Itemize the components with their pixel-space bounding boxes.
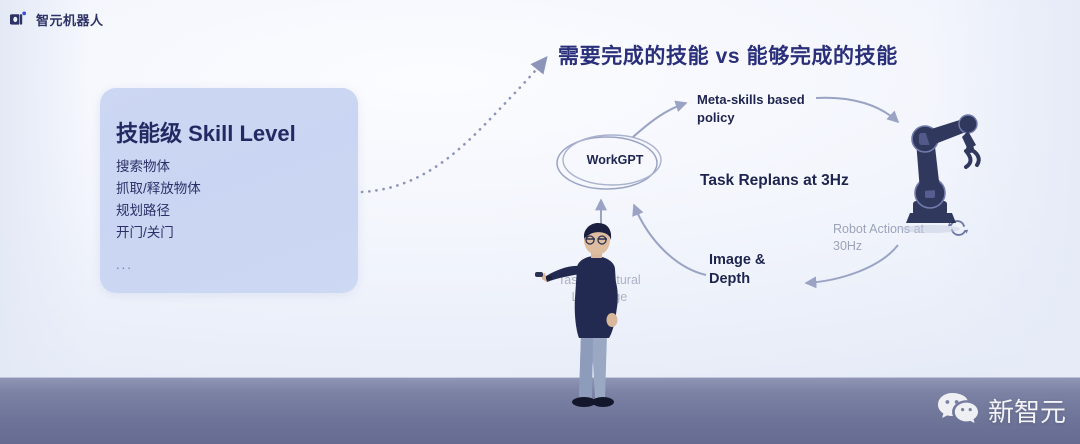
aglibot-logo-icon — [10, 10, 29, 29]
brand-name: 智元机器人 — [36, 10, 104, 29]
page-title: 需要完成的技能 vs 能够完成的技能 — [558, 40, 898, 70]
watermark: 新智元 — [937, 391, 1066, 430]
label-image-depth: Image & Depth — [709, 251, 765, 289]
headline-group: 需要完成的技能 vs 能够完成的技能 — [552, 40, 898, 70]
label-task-replans: Task Replans at 3Hz — [700, 172, 849, 190]
list-item: 规划路径 — [116, 200, 201, 222]
person-presenting-icon — [533, 222, 663, 432]
list-item: 搜索物体 — [116, 156, 201, 178]
list-item: 开门/关门 — [116, 222, 201, 244]
skill-level-panel: 技能级 Skill Level 搜索物体 抓取/释放物体 规划路径 开门/关门 … — [100, 88, 358, 293]
label-workgpt-node: WorkGPT — [575, 153, 655, 167]
skill-panel-title: 技能级 Skill Level — [116, 116, 296, 148]
wall-left-shading — [0, 0, 90, 378]
list-item-ellipsis: ... — [116, 244, 201, 276]
watermark-text: 新智元 — [988, 392, 1066, 429]
brand-logo: 智元机器人 — [10, 10, 104, 29]
skill-list: 搜索物体 抓取/释放物体 规划路径 开门/关门 ... — [116, 156, 201, 276]
robotic-arm-icon — [880, 105, 990, 235]
wechat-icon — [937, 391, 979, 430]
list-item: 抓取/释放物体 — [116, 178, 201, 200]
label-meta-skills-policy: Meta-skills based policy — [697, 91, 805, 127]
